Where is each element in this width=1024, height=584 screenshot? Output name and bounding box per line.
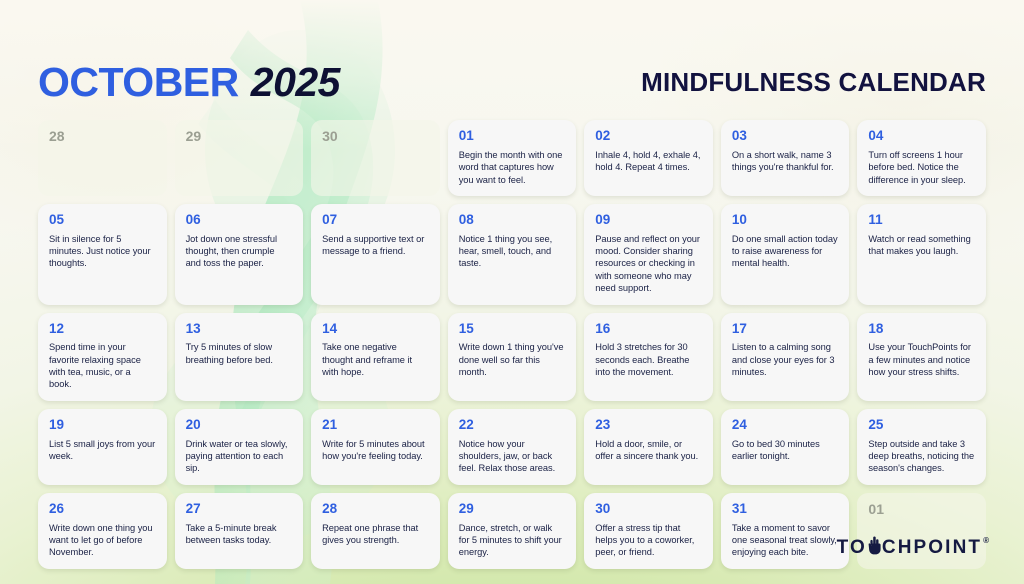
registered-mark: ® (983, 536, 989, 545)
title-year: 2025 (251, 62, 340, 103)
day-activity-text: Repeat one phrase that gives you strengt… (322, 522, 429, 547)
day-activity-text: Try 5 minutes of slow breathing before b… (186, 341, 293, 366)
day-activity-text: Send a supportive text or message to a f… (322, 233, 429, 258)
logo-wordmark: TO CHPOINT ® (837, 535, 988, 560)
calendar-day-cell: 10Do one small action today to raise awa… (721, 204, 850, 305)
day-number: 14 (322, 322, 429, 337)
calendar-day-cell: 17Listen to a calming song and close you… (721, 313, 850, 401)
calendar-day-cell: 15Write down 1 thing you've done well so… (448, 313, 577, 401)
day-activity-text: Go to bed 30 minutes earlier tonight. (732, 438, 839, 463)
day-activity-text: Offer a stress tip that helps you to a c… (595, 522, 702, 559)
day-number: 28 (49, 129, 156, 144)
day-number: 28 (322, 502, 429, 517)
day-activity-text: Use your TouchPoints for a few minutes a… (868, 341, 975, 378)
calendar-day-cell: 13Try 5 minutes of slow breathing before… (175, 313, 304, 401)
calendar-day-cell: 22Notice how your shoulders, jaw, or bac… (448, 409, 577, 485)
day-activity-text: Watch or read something that makes you l… (868, 233, 975, 258)
day-number: 30 (322, 129, 429, 144)
day-number: 29 (459, 502, 566, 517)
day-number: 29 (186, 129, 293, 144)
day-activity-text: Turn off screens 1 hour before bed. Noti… (868, 149, 975, 186)
day-number: 15 (459, 322, 566, 337)
calendar-day-cell: 01Begin the month with one word that cap… (448, 120, 577, 196)
day-activity-text: On a short walk, name 3 things you're th… (732, 149, 839, 174)
calendar-day-cell: 29Dance, stretch, or walk for 5 minutes … (448, 493, 577, 569)
day-activity-text: Hold a door, smile, or offer a sincere t… (595, 438, 702, 463)
day-number: 10 (732, 213, 839, 228)
calendar-day-cell: 24Go to bed 30 minutes earlier tonight. (721, 409, 850, 485)
day-number: 19 (49, 418, 156, 433)
day-activity-text: Listen to a calming song and close your … (732, 341, 839, 378)
calendar-day-cell: 06Jot down one stressful thought, then c… (175, 204, 304, 305)
day-activity-text: Take a 5-minute break between tasks toda… (186, 522, 293, 547)
page-header: OCTOBER 2025 MINDFULNESS CALENDAR (0, 52, 1024, 112)
day-number: 08 (459, 213, 566, 228)
day-activity-text: Pause and reflect on your mood. Consider… (595, 233, 702, 295)
calendar-day-cell: 28Repeat one phrase that gives you stren… (311, 493, 440, 569)
calendar-day-cell: 02Inhale 4, hold 4, exhale 4, hold 4. Re… (584, 120, 713, 196)
day-activity-text: Write for 5 minutes about how you're fee… (322, 438, 429, 463)
day-activity-text: Sit in silence for 5 minutes. Just notic… (49, 233, 156, 270)
day-number: 23 (595, 418, 702, 433)
calendar-day-cell: 14Take one negative thought and reframe … (311, 313, 440, 401)
day-number: 30 (595, 502, 702, 517)
day-activity-text: Inhale 4, hold 4, exhale 4, hold 4. Repe… (595, 149, 702, 174)
calendar-day-cell: 07Send a supportive text or message to a… (311, 204, 440, 305)
calendar-day-cell: 29 (175, 120, 304, 196)
day-number: 01 (868, 502, 975, 517)
day-number: 21 (322, 418, 429, 433)
day-number: 20 (186, 418, 293, 433)
calendar-day-cell: 25Step outside and take 3 deep breaths, … (857, 409, 986, 485)
day-activity-text: Notice 1 thing you see, hear, smell, tou… (459, 233, 566, 270)
calendar-day-cell: 23Hold a door, smile, or offer a sincere… (584, 409, 713, 485)
day-activity-text: Jot down one stressful thought, then cru… (186, 233, 293, 270)
day-activity-text: Take one negative thought and reframe it… (322, 341, 429, 378)
day-activity-text: List 5 small joys from your week. (49, 438, 156, 463)
day-number: 01 (459, 129, 566, 144)
day-number: 27 (186, 502, 293, 517)
calendar-day-cell: 03On a short walk, name 3 things you're … (721, 120, 850, 196)
calendar-day-cell: 21Write for 5 minutes about how you're f… (311, 409, 440, 485)
calendar-day-cell: 18Use your TouchPoints for a few minutes… (857, 313, 986, 401)
day-activity-text: Dance, stretch, or walk for 5 minutes to… (459, 522, 566, 559)
day-activity-text: Take a moment to savor one seasonal trea… (732, 522, 839, 559)
day-number: 22 (459, 418, 566, 433)
day-number: 07 (322, 213, 429, 228)
day-number: 03 (732, 129, 839, 144)
calendar-day-cell: 04Turn off screens 1 hour before bed. No… (857, 120, 986, 196)
day-activity-text: Notice how your shoulders, jaw, or back … (459, 438, 566, 475)
calendar-day-cell: 11Watch or read something that makes you… (857, 204, 986, 305)
calendar-day-cell: 30 (311, 120, 440, 196)
calendar-day-cell: 09Pause and reflect on your mood. Consid… (584, 204, 713, 305)
calendar-day-cell: 31Take a moment to savor one seasonal tr… (721, 493, 850, 569)
calendar-day-cell: 08Notice 1 thing you see, hear, smell, t… (448, 204, 577, 305)
day-number: 02 (595, 129, 702, 144)
day-activity-text: Hold 3 stretches for 30 seconds each. Br… (595, 341, 702, 378)
calendar-day-cell: 20Drink water or tea slowly, paying atte… (175, 409, 304, 485)
title-month: OCTOBER (38, 62, 239, 103)
calendar-day-cell: 26Write down one thing you want to let g… (38, 493, 167, 569)
day-activity-text: Step outside and take 3 deep breaths, no… (868, 438, 975, 475)
calendar-day-cell: 12Spend time in your favorite relaxing s… (38, 313, 167, 401)
touchpoint-logo: TO CHPOINT ® (837, 535, 988, 560)
day-number: 11 (868, 213, 975, 228)
day-activity-text: Write down 1 thing you've done well so f… (459, 341, 566, 378)
calendar-day-cell: 27Take a 5-minute break between tasks to… (175, 493, 304, 569)
day-number: 18 (868, 322, 975, 337)
logo-text-part1: TO (837, 537, 867, 559)
day-activity-text: Write down one thing you want to let go … (49, 522, 156, 559)
day-number: 17 (732, 322, 839, 337)
calendar-title: OCTOBER 2025 (38, 62, 340, 103)
calendar-day-cell: 05Sit in silence for 5 minutes. Just not… (38, 204, 167, 305)
calendar-day-cell: 16Hold 3 stretches for 30 seconds each. … (584, 313, 713, 401)
calendar-day-cell: 30Offer a stress tip that helps you to a… (584, 493, 713, 569)
day-activity-text: Begin the month with one word that captu… (459, 149, 566, 186)
calendar-day-cell: 19List 5 small joys from your week. (38, 409, 167, 485)
day-number: 06 (186, 213, 293, 228)
hand-icon (868, 536, 881, 561)
day-number: 12 (49, 322, 156, 337)
day-number: 13 (186, 322, 293, 337)
calendar-day-cell: 28 (38, 120, 167, 196)
day-number: 16 (595, 322, 702, 337)
day-number: 26 (49, 502, 156, 517)
day-number: 25 (868, 418, 975, 433)
day-number: 09 (595, 213, 702, 228)
day-number: 24 (732, 418, 839, 433)
calendar-grid: 28293001Begin the month with one word th… (38, 120, 986, 569)
day-activity-text: Drink water or tea slowly, paying attent… (186, 438, 293, 475)
day-activity-text: Spend time in your favorite relaxing spa… (49, 341, 156, 390)
day-activity-text: Do one small action today to raise aware… (732, 233, 839, 270)
calendar-subtitle: MINDFULNESS CALENDAR (641, 67, 986, 98)
day-number: 31 (732, 502, 839, 517)
day-number: 04 (868, 129, 975, 144)
logo-text-part2: CHPOINT (882, 537, 982, 559)
day-number: 05 (49, 213, 156, 228)
